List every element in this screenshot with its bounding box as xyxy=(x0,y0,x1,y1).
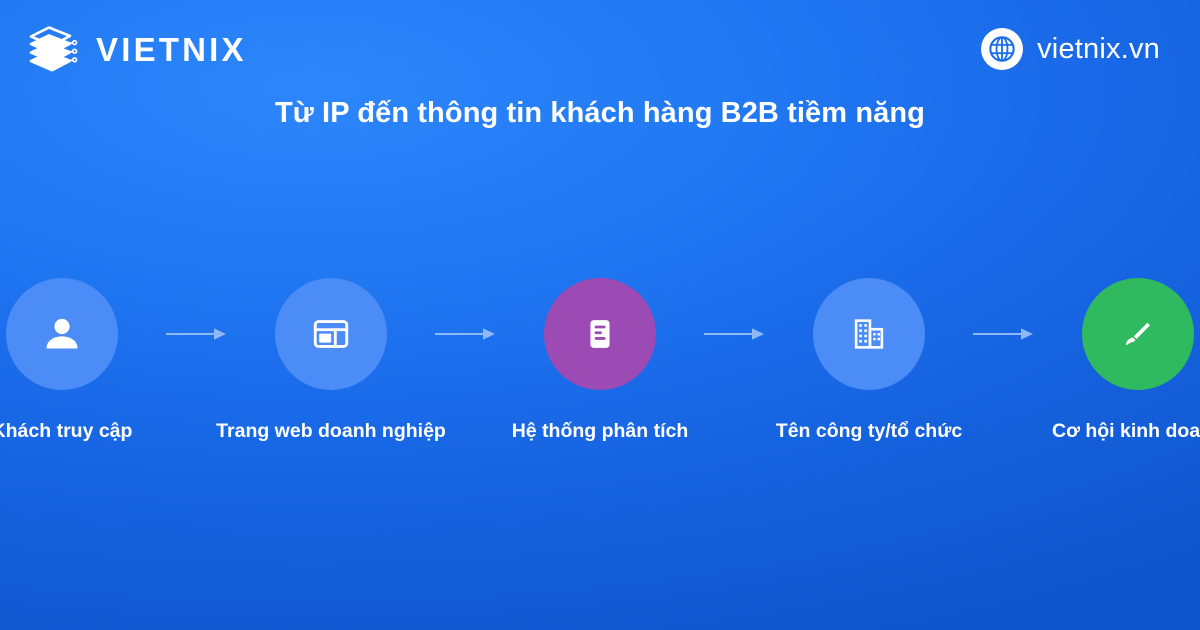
step-bubble xyxy=(544,278,656,390)
brand-name: VIETNIX xyxy=(96,33,247,66)
step-label: Hệ thống phân tích xyxy=(512,420,689,443)
brand-logo: VIETNIX xyxy=(26,22,247,76)
site-url-text: vietnix.vn xyxy=(1037,35,1160,64)
arrow-right-icon xyxy=(433,278,499,390)
step-label: Tên công ty/tổ chức xyxy=(776,420,962,443)
flow-step-analytics-system[interactable]: Hệ thống phân tích xyxy=(499,278,702,443)
flow-step-visitor[interactable]: Khách truy cập xyxy=(0,278,164,443)
paintbrush-icon xyxy=(1117,313,1159,355)
process-flow: Khách truy cập Trang web doanh ngh xyxy=(0,278,1200,443)
person-icon xyxy=(40,312,84,356)
step-label: Trang web doanh nghiệp xyxy=(216,420,446,443)
step-label: Cơ hội kinh doanh xyxy=(1052,420,1200,443)
stacked-layers-icon xyxy=(26,22,80,76)
step-bubble xyxy=(275,278,387,390)
arrow-right-icon xyxy=(164,278,230,390)
flow-step-business-website[interactable]: Trang web doanh nghiệp xyxy=(230,278,433,443)
step-label: Khách truy cập xyxy=(0,420,132,443)
flow-step-business-opportunity[interactable]: Cơ hội kinh doanh xyxy=(1037,278,1200,443)
page-title: Từ IP đến thông tin khách hàng B2B tiềm … xyxy=(0,95,1200,131)
webpage-layout-icon xyxy=(310,313,352,355)
site-url-badge[interactable]: vietnix.vn xyxy=(981,28,1160,70)
office-building-icon xyxy=(848,313,890,355)
infographic-poster: VIETNIX vietnix.vn Từ IP đến thông tin k… xyxy=(0,0,1200,630)
document-lines-icon xyxy=(579,313,621,355)
arrow-right-icon xyxy=(971,278,1037,390)
flow-step-company-name[interactable]: Tên công ty/tổ chức xyxy=(768,278,971,443)
step-bubble xyxy=(6,278,118,390)
arrow-right-icon xyxy=(702,278,768,390)
step-bubble xyxy=(813,278,925,390)
step-bubble xyxy=(1082,278,1194,390)
globe-icon xyxy=(981,28,1023,70)
